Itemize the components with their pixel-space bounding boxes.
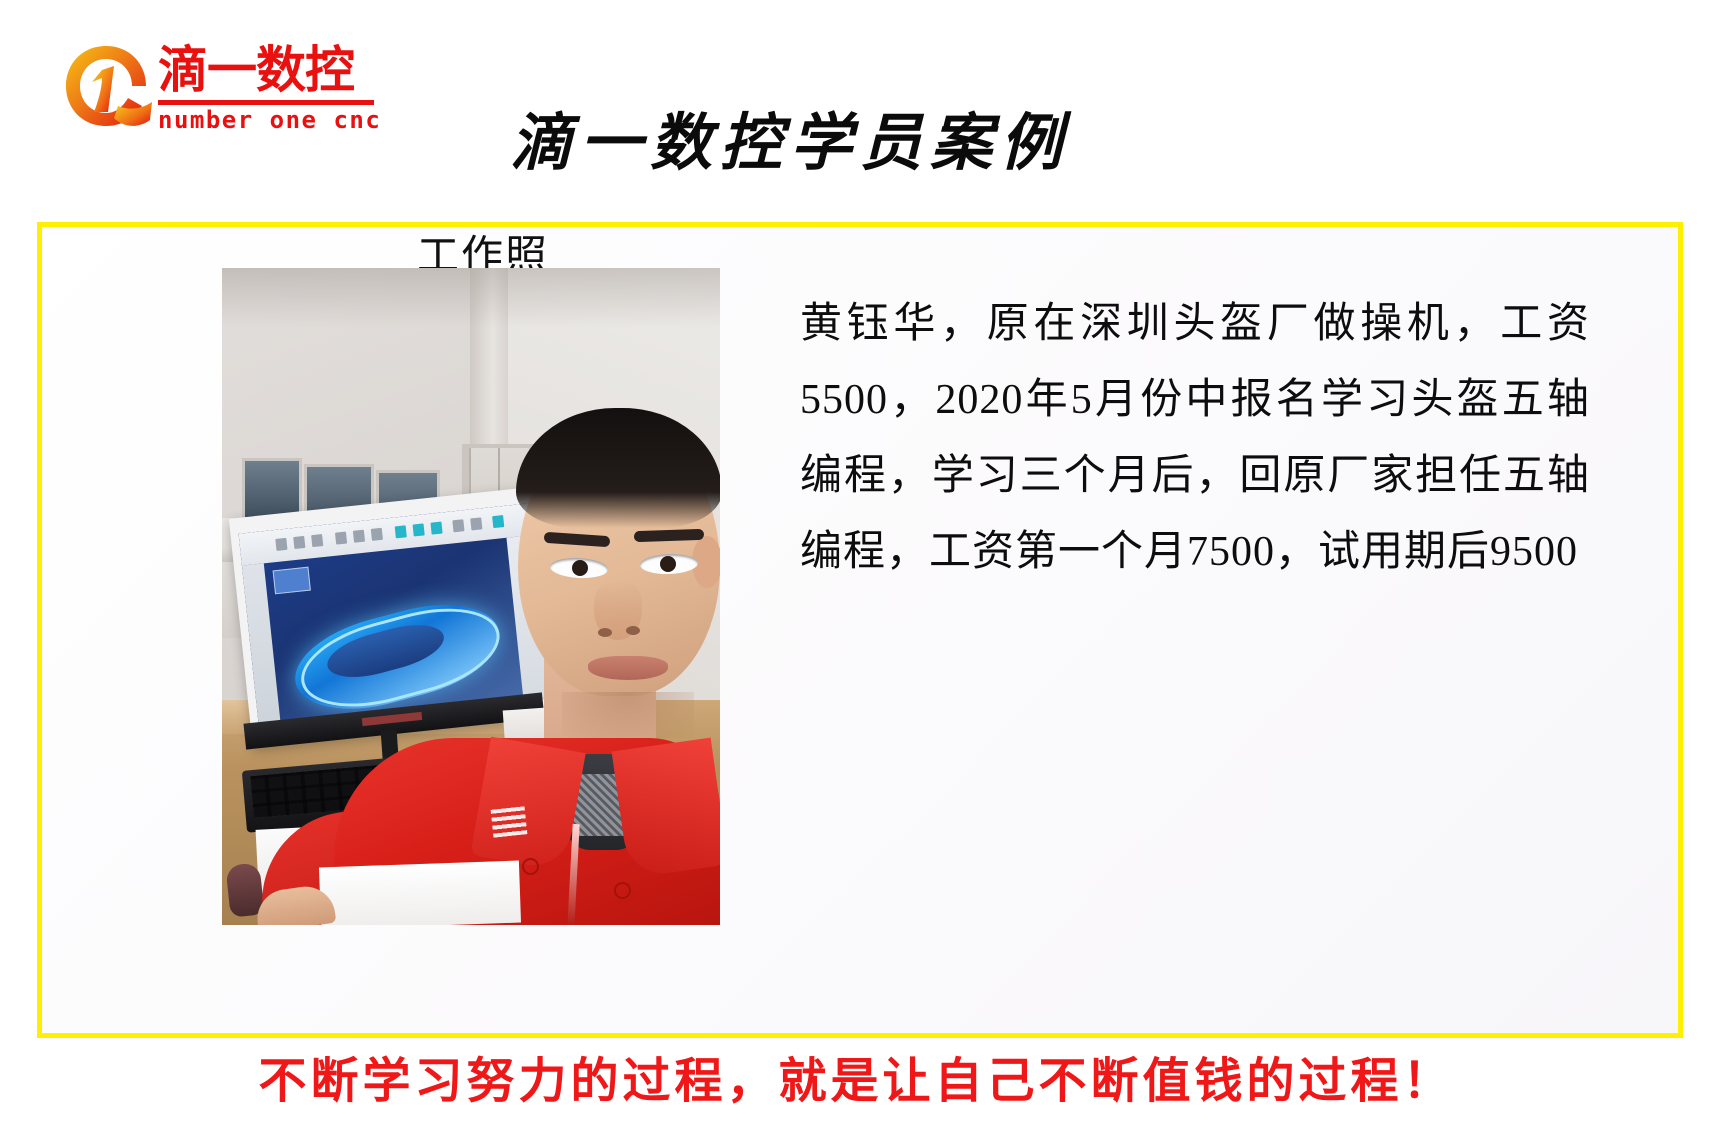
photo-person-chin-shadow bbox=[562, 692, 694, 738]
photo-person-pupil-left bbox=[572, 560, 588, 576]
photo-person-pupil-right bbox=[660, 556, 676, 572]
photo-paper-sheet-2 bbox=[319, 861, 521, 925]
page-title: 滴一数控学员案例 bbox=[440, 108, 1140, 180]
brand-name-en: number one cnc bbox=[158, 106, 376, 134]
number-one-swoosh-icon bbox=[58, 40, 154, 132]
photo-person-nostril-right bbox=[626, 626, 640, 635]
brand-logo: 滴一数控 number one cnc bbox=[58, 38, 378, 143]
slide-page: 滴一数控 number one cnc 滴一数控学员案例 工作照 bbox=[0, 0, 1713, 1132]
brand-name-cn: 滴一数控 bbox=[158, 42, 376, 98]
photo-person-snap-button-1 bbox=[522, 858, 539, 875]
photo-person-nostril-left bbox=[598, 628, 612, 637]
student-story-text: 黄钰华，原在深圳头盔厂做操机，工资 5500，2020年5月份中报名学习头盔五轴… bbox=[800, 286, 1590, 590]
photo-person-snap-button-2 bbox=[614, 882, 631, 899]
student-work-photo bbox=[222, 268, 720, 925]
photo-back-cabinet-1 bbox=[242, 458, 302, 520]
brand-wordmark: 滴一数控 number one cnc bbox=[158, 42, 376, 134]
photo-cad-thumbnail bbox=[273, 567, 311, 595]
photo-ceiling-shadow bbox=[222, 268, 720, 328]
photo-monitor-screen bbox=[239, 503, 550, 728]
footer-slogan: 不断学习努力的过程，就是让自己不断值钱的过程！ bbox=[0, 1052, 1713, 1110]
brand-divider-rule bbox=[158, 100, 374, 105]
photo-person-lips bbox=[588, 656, 668, 680]
photo-person-chest-logo bbox=[491, 806, 528, 837]
